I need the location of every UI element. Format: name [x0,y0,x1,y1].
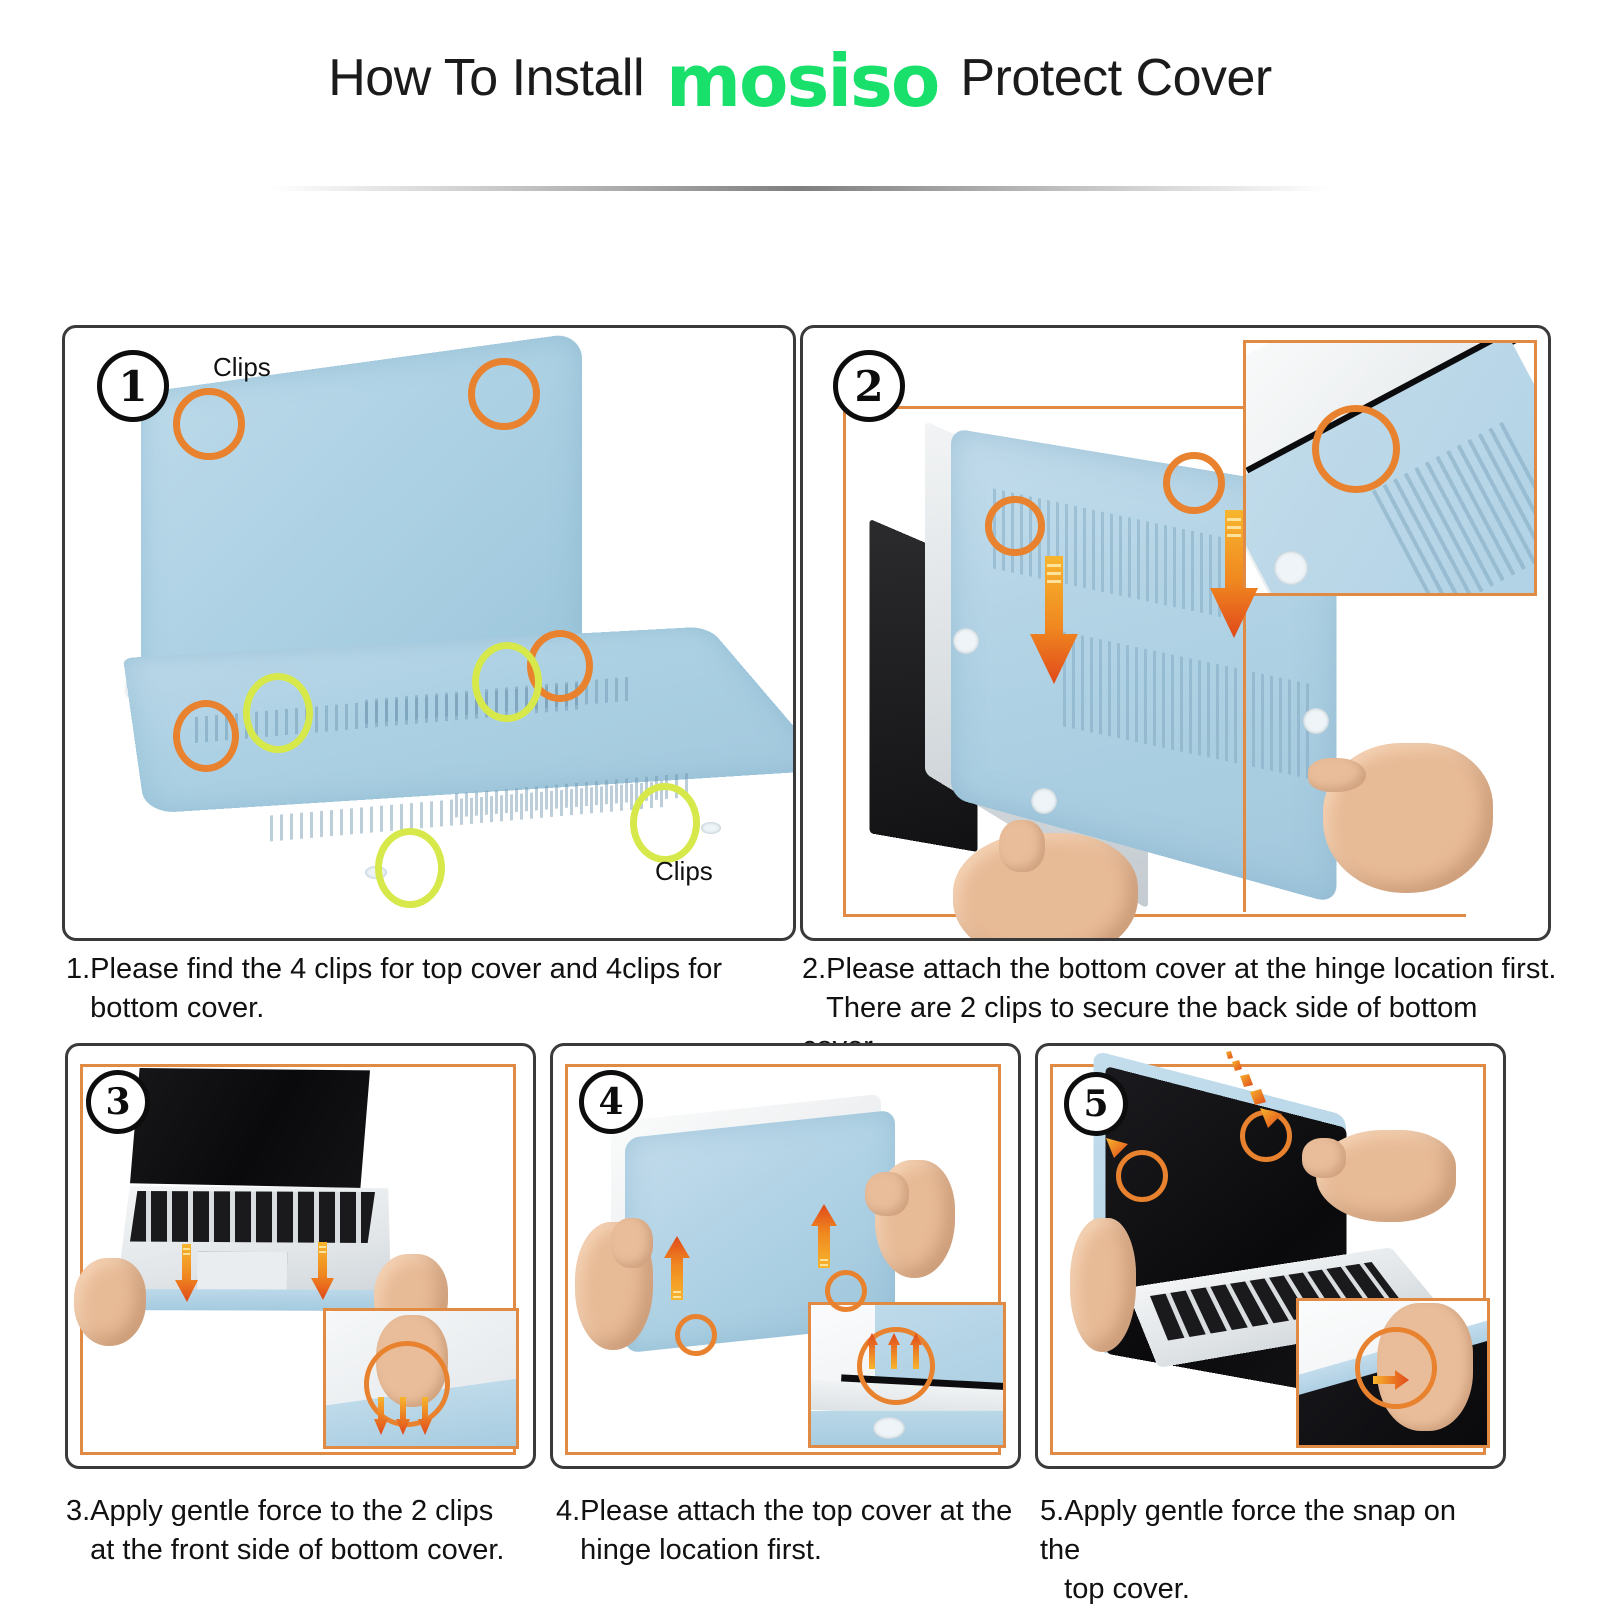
rubber-foot-p2-4 [1303,708,1329,734]
keyboard-p3 [130,1191,375,1243]
rubber-foot-2 [701,822,721,834]
inset-hinge-detail [1243,340,1537,596]
clip-circle-orange-3 [173,700,239,772]
clips-label-bottom: Clips [655,856,713,887]
hand-left-p3 [74,1258,146,1346]
inset-hinge-attach-p4 [808,1302,1006,1448]
press-arrow-right [1203,510,1265,640]
step-caption-5: 5.Apply gentle force the snap on the top… [1040,1492,1510,1609]
inset-thumb-press-p3 [323,1308,519,1449]
step-panel-4: 4 [550,1043,1021,1469]
step-panel-2: 2 [800,325,1551,941]
title-row: How To Install mosiso Protect Cover [0,48,1600,108]
step-number-4: 4 [579,1070,643,1134]
attach-arrow-p4-right [808,1204,840,1270]
step-panel-3: 3 [65,1043,536,1469]
rubber-foot-p2-3 [1031,788,1057,814]
clip-circle-p4-right [825,1270,867,1312]
title-prefix: How To Install [328,48,644,108]
title-suffix: Protect Cover [960,48,1271,108]
clip-circle-yellow-1 [243,673,313,753]
attach-arrow-p4-left [661,1236,693,1302]
page-header: How To Install mosiso Protect Cover [0,0,1600,200]
clip-circle-yellow-4 [630,783,700,863]
inset-leader-horizontal [843,406,1243,409]
press-arrow-p3-right [308,1242,338,1302]
thumb-left [999,820,1045,872]
snap-arrow-p5-right [1220,1050,1290,1130]
clips-label-top: Clips [213,352,271,383]
inset-arrow-p5 [1373,1367,1415,1393]
fingers-right-p5 [1302,1138,1346,1178]
trackpad-p3 [196,1251,288,1295]
inset-blue-base-p4 [808,1411,1006,1448]
step-number-2: 2 [833,350,905,422]
step-caption-1: 1.Please find the 4 clips for top cover … [66,950,796,1028]
step-number-1: 1 [97,350,169,422]
mosiso-logo: mosiso [666,53,938,109]
press-arrow-left [1023,556,1085,686]
step-number-3: 3 [86,1070,150,1134]
hand-left-p5 [1070,1218,1136,1352]
fingers-left-p4 [611,1218,653,1268]
laptop-screen-p3 [130,1068,370,1188]
step-caption-4: 4.Please attach the top cover at the hin… [556,1492,1026,1570]
rubber-foot-p2-1 [953,628,979,654]
inset-arrows-p4 [865,1333,931,1373]
inset-detail-circle [1312,405,1400,493]
hinge-clip-circle-right [1163,452,1225,514]
fingers-right-p4 [865,1172,909,1216]
thumb-right [1308,758,1366,792]
clip-circle-p4-left [675,1314,717,1356]
inset-arrows-p3 [374,1397,444,1439]
hand-left [953,833,1138,941]
step-number-5: 5 [1064,1072,1128,1136]
header-divider [270,186,1330,191]
clip-circle-orange-2 [468,358,540,430]
clip-circle-orange-1 [173,388,245,460]
hinge-clip-circle-left [985,496,1045,556]
step-caption-3: 3.Apply gentle force to the 2 clips at t… [66,1492,556,1570]
inset-rubber-foot [1274,551,1308,585]
press-arrow-p3-left [172,1244,202,1304]
step-panel-1: 1 Clips Clips [62,325,796,941]
clip-circle-yellow-3 [375,828,445,908]
clip-circle-yellow-2 [472,642,542,722]
inset-snap-detail-p5 [1296,1298,1490,1448]
inset-foot-p4 [873,1417,905,1439]
step-panel-5: 5 [1035,1043,1506,1469]
